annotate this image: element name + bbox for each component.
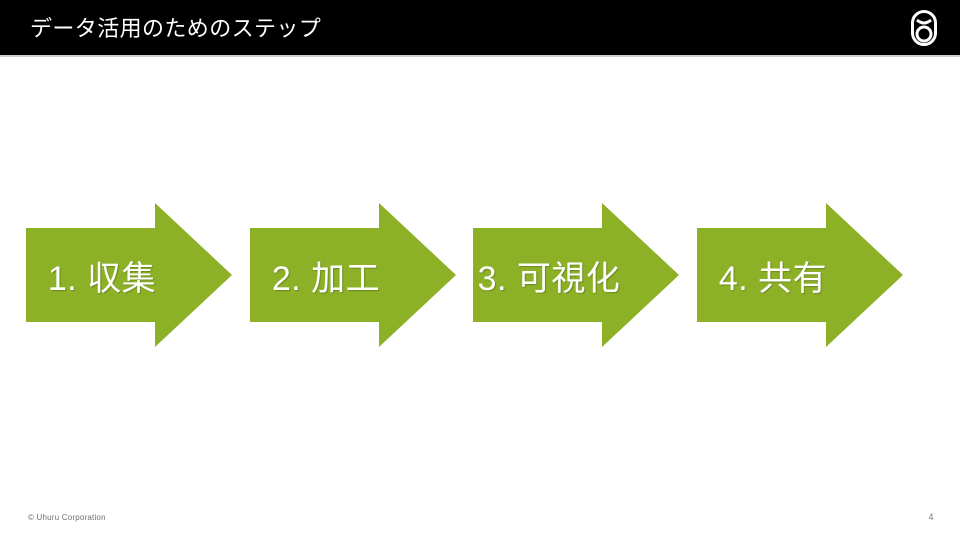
- page-title: データ活用のためのステップ: [30, 12, 790, 46]
- arrow-shape-icon: [697, 195, 907, 355]
- arrow-shape-icon: [473, 195, 683, 355]
- slide: データ活用のためのステップ 1. 収集 2. 加工 3. 可視化: [0, 0, 960, 540]
- page-number: 4: [920, 512, 942, 522]
- process-step-4[interactable]: 4. 共有: [697, 195, 907, 355]
- process-arrow-row: 1. 収集 2. 加工 3. 可視化 4. 共有: [0, 195, 960, 360]
- footer-copyright: © Uhuru Corporation: [28, 513, 106, 522]
- uhuru-logo-icon: [906, 9, 942, 47]
- header-divider: [0, 55, 960, 57]
- arrow-shape-icon: [26, 195, 236, 355]
- process-step-3[interactable]: 3. 可視化: [473, 195, 683, 355]
- process-step-1[interactable]: 1. 収集: [26, 195, 236, 355]
- arrow-shape-icon: [250, 195, 460, 355]
- process-step-2[interactable]: 2. 加工: [250, 195, 460, 355]
